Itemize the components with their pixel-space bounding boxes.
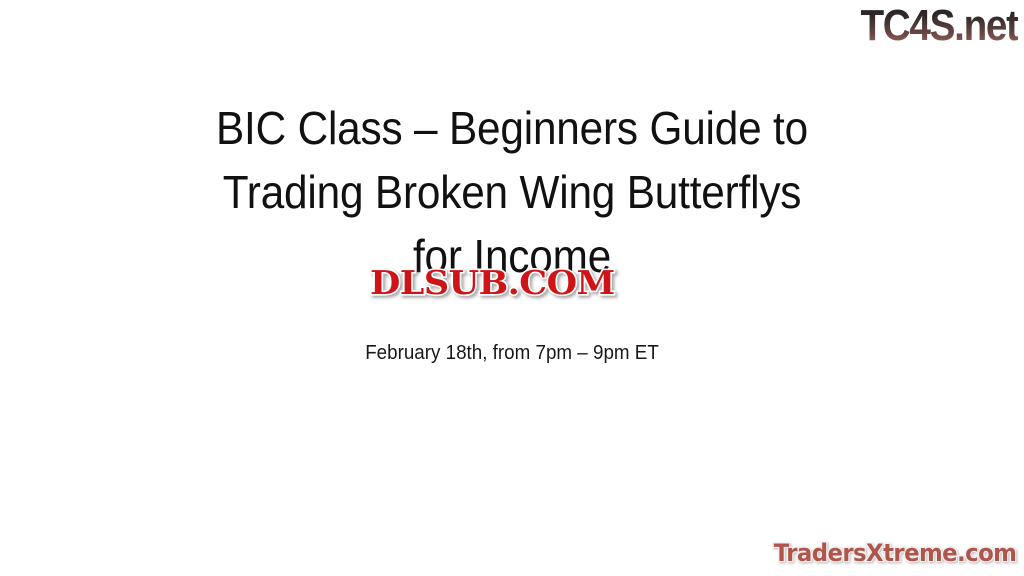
watermark-tc4s: TC4S.net xyxy=(861,2,1018,50)
title-line-1: BIC Class – Beginners Guide to xyxy=(144,96,880,160)
slide-title: BIC Class – Beginners Guide to Trading B… xyxy=(112,96,912,288)
presentation-slide: BIC Class – Beginners Guide to Trading B… xyxy=(0,0,1024,576)
watermark-dlsub: DLSUB.COM xyxy=(370,264,615,302)
watermark-tradersxtreme: TradersXtreme.com xyxy=(773,538,1016,568)
title-line-2: Trading Broken Wing Butterflys xyxy=(144,160,880,224)
slide-subtitle: February 18th, from 7pm – 9pm ET xyxy=(136,340,888,366)
